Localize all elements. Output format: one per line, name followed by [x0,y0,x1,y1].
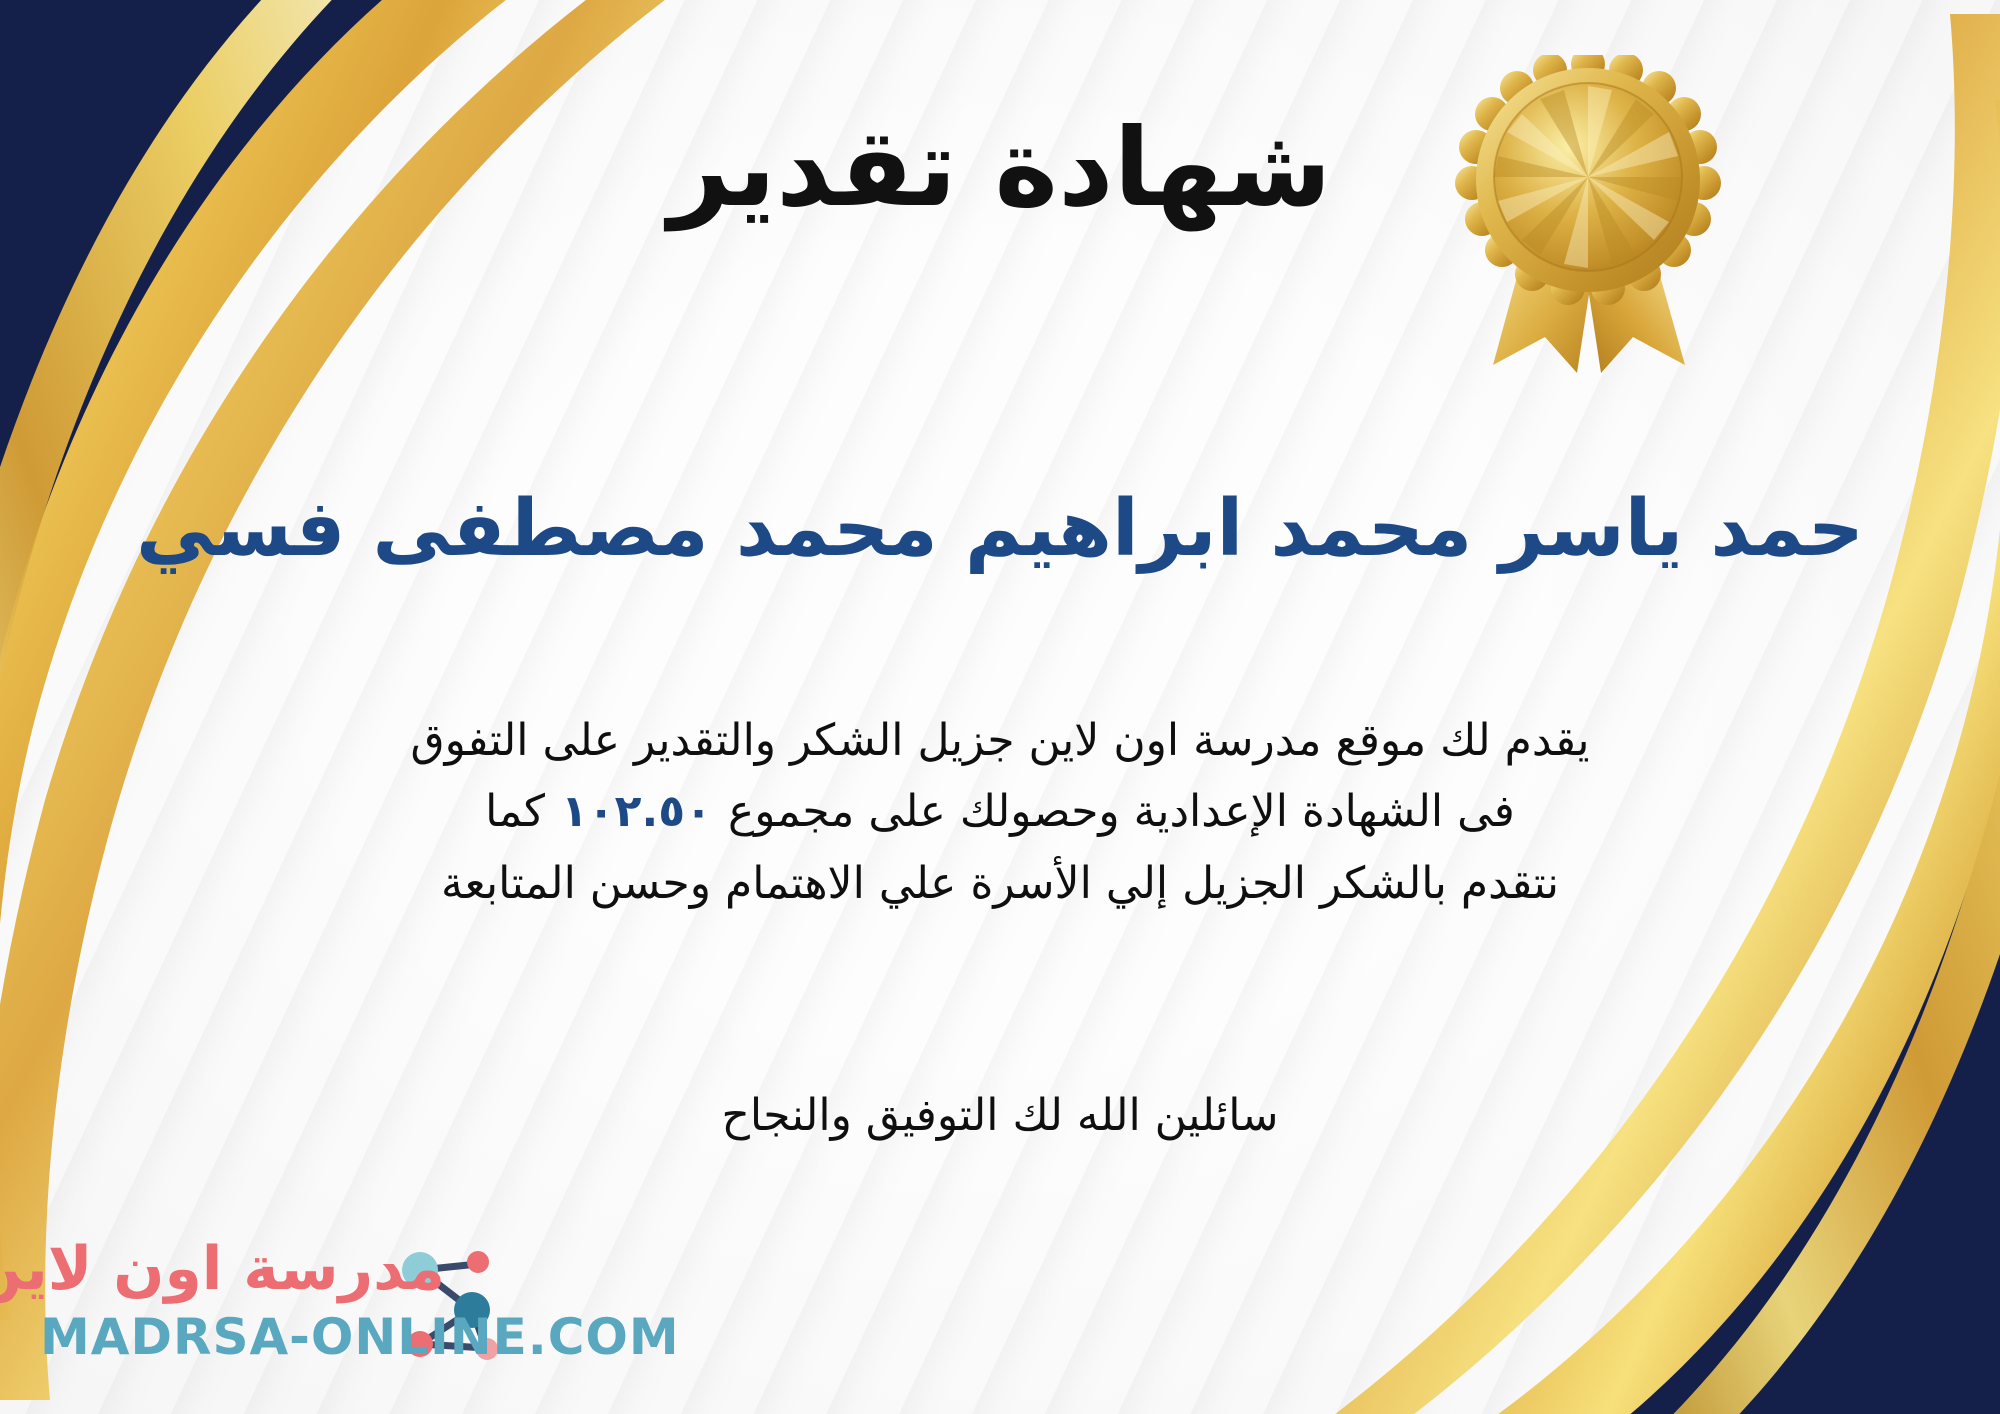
score-value: ١٠٢.٥٠ [545,786,728,837]
body-line-3: نتقدم بالشكر الجزيل إلي الأسرة علي الاهت… [120,848,1880,919]
site-logo[interactable]: مدرسة اون لاين MADRSA-ONLINE.COM [30,1226,500,1396]
logo-arabic-text: مدرسة اون لاين [0,1234,445,1304]
body-line-2-after-score: كما [485,786,545,837]
body-line-2: فى الشهادة الإعدادية وحصولك على مجموع١٠٢… [120,776,1880,847]
page-title: شهادة تقدير [0,110,2000,229]
certificate-page: شهادة تقدير حمد ياسر محمد ابراهيم محمد م… [0,0,2000,1414]
logo-domain-text: MADRSA-ONLINE.COM [40,1308,680,1366]
closing-line: سائلين الله لك التوفيق والنجاح [120,1090,1880,1141]
certificate-body: يقدم لك موقع مدرسة اون لاين جزيل الشكر و… [120,705,1880,919]
body-line-1: يقدم لك موقع مدرسة اون لاين جزيل الشكر و… [120,705,1880,776]
recipient-name: حمد ياسر محمد ابراهيم محمد مصطفى فسي [0,485,2000,575]
body-line-2-before-score: فى الشهادة الإعدادية وحصولك على مجموع [728,786,1515,837]
